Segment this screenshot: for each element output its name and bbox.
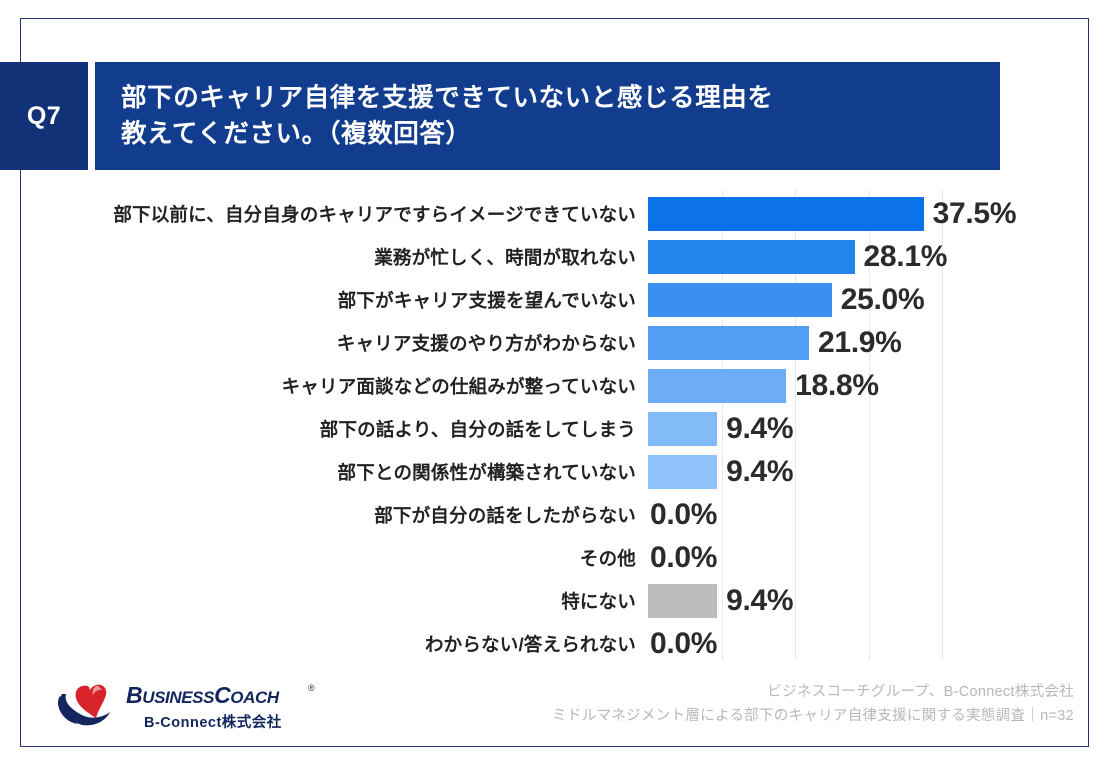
chart-row: わからない/答えられない0.0% xyxy=(0,620,1109,667)
logo-wordmark: BUSINESSCOACH xyxy=(126,682,279,709)
question-title-box: 部下のキャリア自律を支援できていないと感じる理由を 教えてください。（複数回答） xyxy=(95,62,1000,170)
bar-container: 25.0% xyxy=(648,283,924,317)
category-label: キャリア面談などの仕組みが整っていない xyxy=(0,373,636,399)
category-label: 部下の話より、自分の話をしてしまう xyxy=(0,416,636,442)
bar-container: 9.4% xyxy=(648,412,793,446)
chart-row: 部下の話より、自分の話をしてしまう9.4% xyxy=(0,405,1109,452)
bar-chart: 部下以前に、自分自身のキャリアですらイメージできていない37.5%業務が忙しく、… xyxy=(0,190,1109,670)
source-credits: ビジネスコーチグループ、B-Connect株式会社 ミドルマネジメント層による部… xyxy=(552,680,1074,728)
category-label: わからない/答えられない xyxy=(0,631,636,657)
logo-subtitle: B-Connect株式会社 xyxy=(144,711,282,732)
bar-segment xyxy=(648,240,855,274)
chart-row: 部下がキャリア支援を望んでいない25.0% xyxy=(0,276,1109,323)
category-label: 業務が忙しく、時間が取れない xyxy=(0,244,636,270)
question-header: Q7 部下のキャリア自律を支援できていないと感じる理由を 教えてください。（複数… xyxy=(0,62,1109,170)
credit-line-2: ミドルマネジメント層による部下のキャリア自律支援に関する実態調査｜n=32 xyxy=(552,704,1074,728)
chart-row: 部下以前に、自分自身のキャリアですらイメージできていない37.5% xyxy=(0,190,1109,237)
category-label: 部下が自分の話をしたがらない xyxy=(0,502,636,528)
chart-row: その他0.0% xyxy=(0,534,1109,581)
bar-container: 0.0% xyxy=(648,498,717,532)
category-label: 部下がキャリア支援を望んでいない xyxy=(0,287,636,313)
bar-value-label: 0.0% xyxy=(650,541,717,575)
bar-container: 28.1% xyxy=(648,240,947,274)
chart-row: 部下との関係性が構築されていない9.4% xyxy=(0,448,1109,495)
slide-footer: BUSINESSCOACH ® B-Connect株式会社 ビジネスコーチグルー… xyxy=(0,672,1109,752)
company-logo: BUSINESSCOACH ® B-Connect株式会社 xyxy=(52,678,332,740)
bar-segment xyxy=(648,455,717,489)
bar-value-label: 9.4% xyxy=(726,455,793,489)
chart-row: 特にない9.4% xyxy=(0,577,1109,624)
question-title-line-2: 教えてください。（複数回答） xyxy=(121,116,1000,152)
bar-value-label: 0.0% xyxy=(650,498,717,532)
bar-container: 37.5% xyxy=(648,197,1016,231)
bar-value-label: 18.8% xyxy=(795,369,879,403)
bar-value-label: 9.4% xyxy=(726,584,793,618)
question-title-line-1: 部下のキャリア自律を支援できていないと感じる理由を xyxy=(121,80,1000,116)
slide-canvas: Q7 部下のキャリア自律を支援できていないと感じる理由を 教えてください。（複数… xyxy=(0,0,1109,767)
chart-row: キャリア支援のやり方がわからない21.9% xyxy=(0,319,1109,366)
bar-container: 9.4% xyxy=(648,455,793,489)
bar-value-label: 9.4% xyxy=(726,412,793,446)
bar-segment xyxy=(648,283,832,317)
category-label: 部下以前に、自分自身のキャリアですらイメージできていない xyxy=(0,201,636,227)
logo-word-c: C xyxy=(214,682,230,708)
bar-segment xyxy=(648,369,786,403)
category-label: その他 xyxy=(0,545,636,571)
bar-container: 18.8% xyxy=(648,369,879,403)
question-number-label: Q7 xyxy=(27,102,61,131)
bar-segment xyxy=(648,584,717,618)
logo-registered-mark: ® xyxy=(308,683,315,693)
category-label: 部下との関係性が構築されていない xyxy=(0,459,636,485)
bar-segment xyxy=(648,197,924,231)
bar-value-label: 37.5% xyxy=(933,197,1017,231)
credit-line-1: ビジネスコーチグループ、B-Connect株式会社 xyxy=(552,680,1074,704)
bar-segment xyxy=(648,412,717,446)
bar-value-label: 25.0% xyxy=(841,283,925,317)
business-coach-logo-mark xyxy=(52,680,124,728)
bar-value-label: 21.9% xyxy=(818,326,902,360)
category-label: 特にない xyxy=(0,588,636,614)
bar-container: 21.9% xyxy=(648,326,902,360)
logo-word-oach: OACH xyxy=(230,688,278,707)
chart-row: 部下が自分の話をしたがらない0.0% xyxy=(0,491,1109,538)
bar-container: 9.4% xyxy=(648,584,793,618)
bar-segment xyxy=(648,326,809,360)
bar-container: 0.0% xyxy=(648,541,717,575)
question-number-badge: Q7 xyxy=(0,62,88,170)
bar-container: 0.0% xyxy=(648,627,717,661)
chart-row: 業務が忙しく、時間が取れない28.1% xyxy=(0,233,1109,280)
category-label: キャリア支援のやり方がわからない xyxy=(0,330,636,356)
bar-value-label: 28.1% xyxy=(864,240,948,274)
bar-value-label: 0.0% xyxy=(650,627,717,661)
logo-word-b: B xyxy=(126,682,142,708)
chart-row: キャリア面談などの仕組みが整っていない18.8% xyxy=(0,362,1109,409)
logo-word-usiness: USINESS xyxy=(142,688,214,707)
